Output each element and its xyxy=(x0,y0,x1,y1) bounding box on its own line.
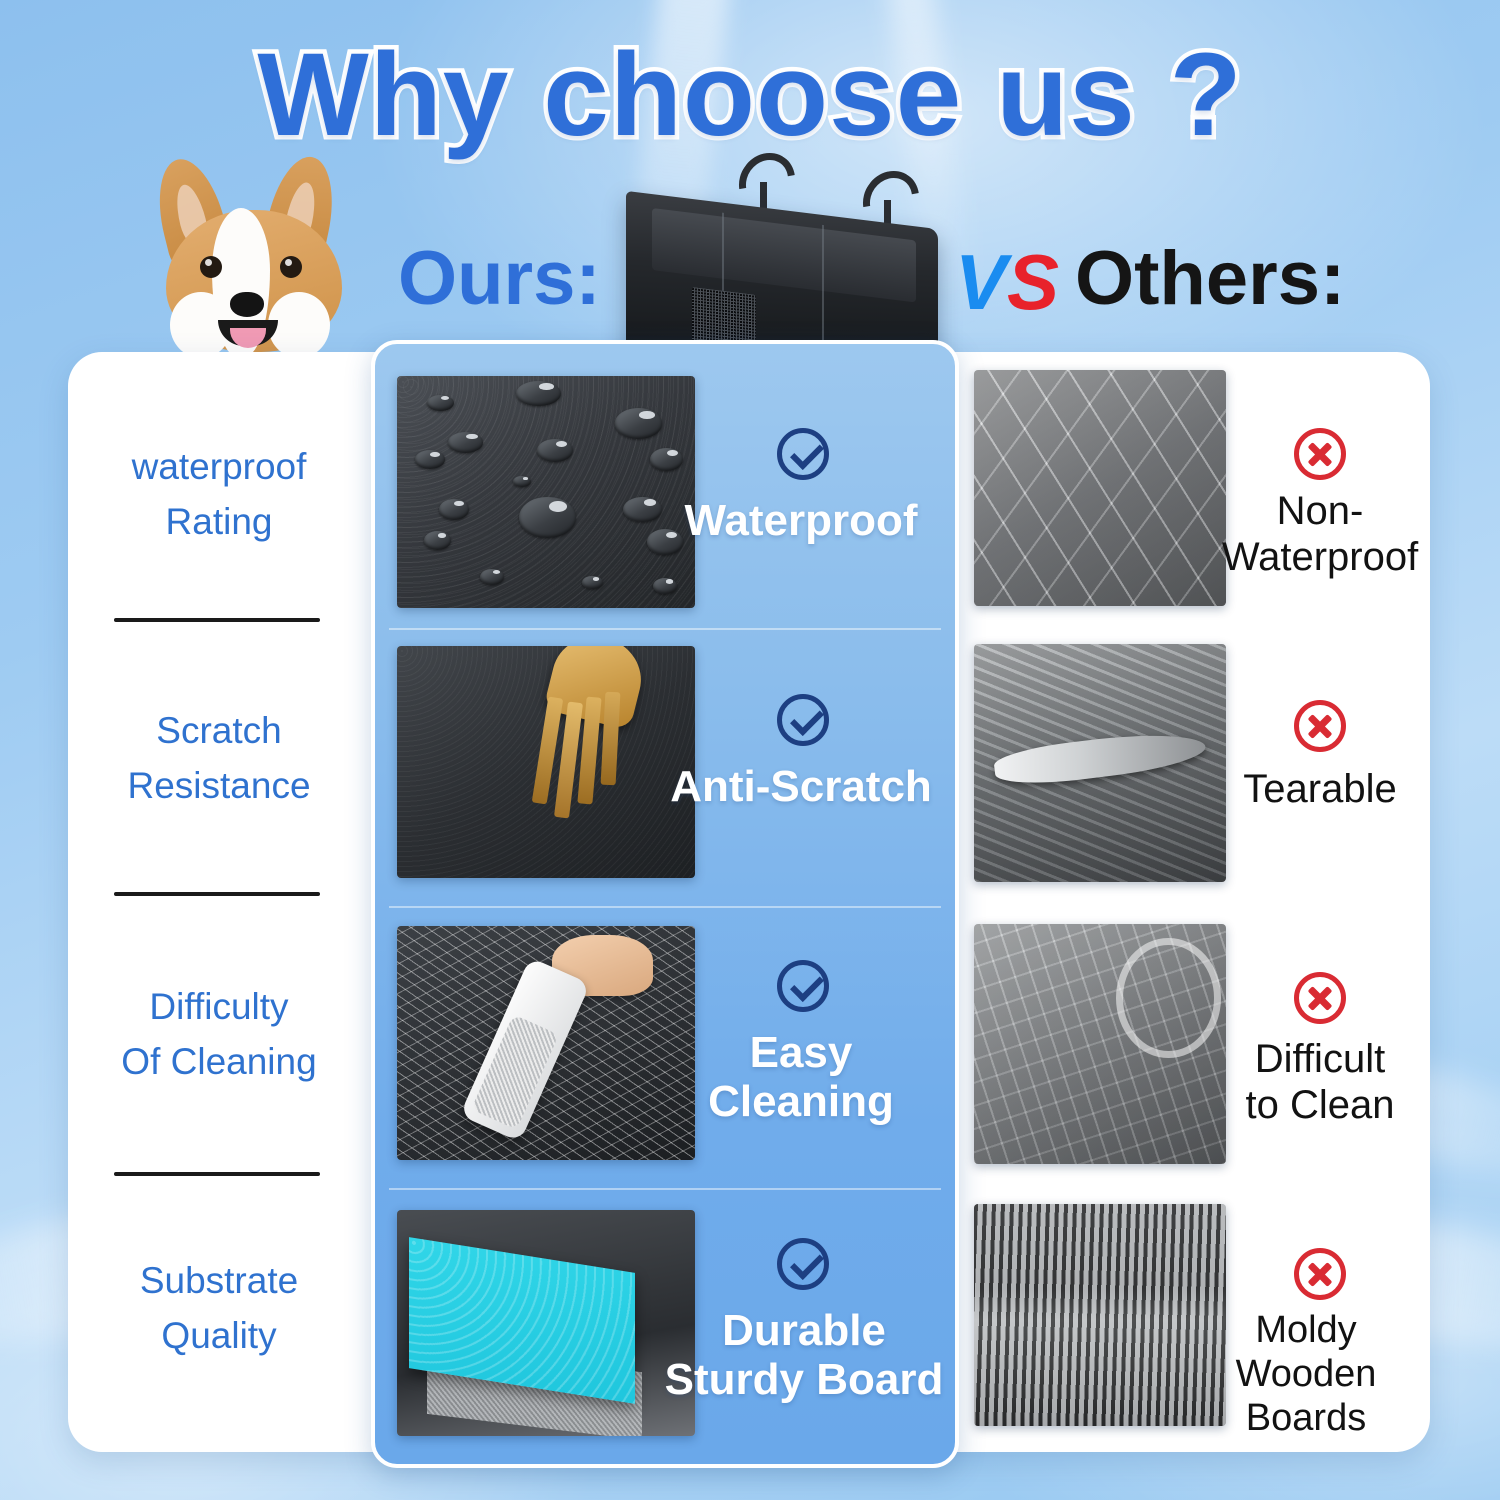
photo-fork-on-leather xyxy=(397,646,695,878)
page-title: Why choose us ? xyxy=(0,34,1500,158)
criteria-label: Scratch Resistance xyxy=(127,704,310,814)
ours-caption-line-1: Waterproof xyxy=(675,496,927,545)
ours-caption: Durable Sturdy Board xyxy=(661,1306,947,1405)
photo-dirty-fabric xyxy=(974,924,1226,1164)
criteria-row: Scratch Resistance xyxy=(68,664,370,854)
ours-caption-line-1: Anti-Scratch xyxy=(665,762,937,811)
photo-torn-fabric xyxy=(974,644,1226,882)
others-column-label: Others: xyxy=(1075,235,1345,322)
criteria-row: waterproof Rating xyxy=(68,400,370,590)
others-caption-line-2: to Clean xyxy=(1200,1082,1440,1128)
check-circle-icon xyxy=(777,428,829,480)
vs-letter-s: S xyxy=(1007,238,1059,326)
criteria-label: waterproof Rating xyxy=(132,440,307,550)
others-caption-line-1: Difficult xyxy=(1200,1036,1440,1082)
ours-caption: Easy Cleaning xyxy=(675,1028,927,1127)
x-circle-icon xyxy=(1294,972,1346,1024)
criteria-line-2: Of Cleaning xyxy=(121,1035,316,1090)
criteria-divider xyxy=(114,618,320,622)
ours-caption: Anti-Scratch xyxy=(665,762,937,811)
criteria-line-2: Resistance xyxy=(127,759,310,814)
check-circle-icon xyxy=(777,960,829,1012)
ours-panel: Waterproof Anti-Scratch Easy xyxy=(371,340,959,1468)
x-circle-icon xyxy=(1294,1248,1346,1300)
others-caption: Moldy Wooden Boards xyxy=(1182,1308,1430,1440)
photo-water-droplets xyxy=(397,376,695,608)
criteria-label: Substrate Quality xyxy=(140,1254,298,1364)
others-caption-line-1: Tearable xyxy=(1200,766,1440,812)
ours-caption-line-2: Sturdy Board xyxy=(661,1355,947,1404)
criteria-line-1: Substrate xyxy=(140,1254,298,1309)
ours-row-antiscratch: Anti-Scratch xyxy=(375,632,955,910)
ours-caption-line-1: Easy xyxy=(675,1028,927,1077)
ours-caption-line-2: Cleaning xyxy=(675,1077,927,1126)
others-caption-line-2: Waterproof xyxy=(1200,534,1440,580)
criteria-row: Difficulty Of Cleaning xyxy=(68,940,370,1130)
ours-row-waterproof: Waterproof xyxy=(375,360,955,632)
criteria-line-2: Rating xyxy=(132,495,307,550)
others-caption: Difficult to Clean xyxy=(1200,1036,1440,1129)
vs-letter-v: V xyxy=(955,238,1007,326)
criteria-row: Substrate Quality xyxy=(68,1214,370,1404)
check-circle-icon xyxy=(777,1238,829,1290)
vs-badge: VS xyxy=(955,237,1059,328)
others-row-nonwaterproof: Non- Waterproof xyxy=(960,362,1430,632)
ours-row-easycleaning: Easy Cleaning xyxy=(375,910,955,1192)
photo-wet-quilted-fabric xyxy=(974,370,1226,606)
criteria-line-1: Scratch xyxy=(127,704,310,759)
criteria-divider xyxy=(114,1172,320,1176)
photo-lint-brush xyxy=(397,926,695,1160)
others-caption-line-1: Moldy Wooden xyxy=(1182,1308,1430,1396)
others-caption: Tearable xyxy=(1200,766,1440,812)
criteria-label: Difficulty Of Cleaning xyxy=(121,980,316,1090)
criteria-line-1: Difficulty xyxy=(121,980,316,1035)
others-column: Non- Waterproof Tearable Difficult to Cl… xyxy=(960,352,1430,1452)
others-row-moldy-boards: Moldy Wooden Boards xyxy=(960,1200,1430,1452)
others-caption: Non- Waterproof xyxy=(1200,488,1440,581)
ours-caption: Waterproof xyxy=(675,496,927,545)
criteria-column: waterproof Rating Scratch Resistance Dif… xyxy=(68,352,370,1452)
criteria-line-2: Quality xyxy=(140,1309,298,1364)
others-caption-line-1: Non- xyxy=(1200,488,1440,534)
x-circle-icon xyxy=(1294,700,1346,752)
others-row-difficult-to-clean: Difficult to Clean xyxy=(960,918,1430,1200)
others-caption-line-2: Boards xyxy=(1182,1396,1430,1440)
criteria-line-1: waterproof xyxy=(132,440,307,495)
photo-cyan-board xyxy=(397,1210,695,1436)
x-circle-icon xyxy=(1294,428,1346,480)
criteria-divider xyxy=(114,892,320,896)
ours-row-sturdyboard: Durable Sturdy Board xyxy=(375,1192,955,1462)
ours-column-label: Ours: xyxy=(398,235,601,322)
others-row-tearable: Tearable xyxy=(960,638,1430,918)
check-circle-icon xyxy=(777,694,829,746)
ours-caption-line-1: Durable xyxy=(661,1306,947,1355)
